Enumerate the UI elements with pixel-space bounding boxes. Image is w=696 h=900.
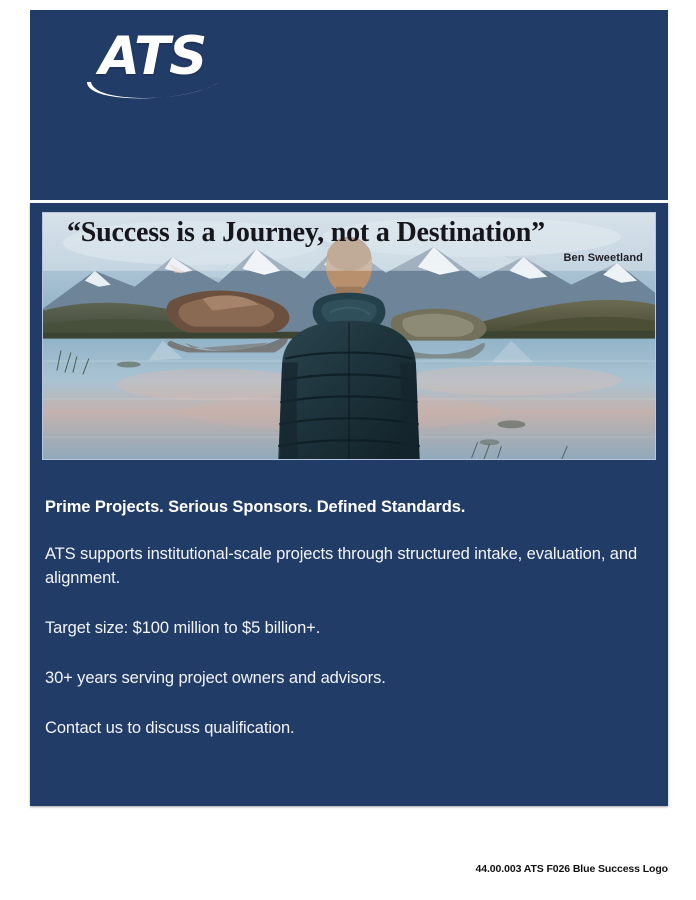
header-band: ATS [30, 10, 668, 200]
inspirational-banner: “Success is a Journey, not a Destination… [42, 212, 656, 460]
ats-swoosh-icon [85, 76, 225, 102]
paragraph-experience: 30+ years serving project owners and adv… [45, 667, 645, 691]
paragraph-target-size: Target size: $100 million to $5 billion+… [45, 617, 645, 641]
paragraph-support: ATS supports institutional-scale project… [45, 543, 645, 591]
headline: Prime Projects. Serious Sponsors. Define… [45, 498, 645, 517]
footer-document-code: 44.00.003 ATS F026 Blue Success Logo [0, 863, 668, 875]
body-text-container: Prime Projects. Serious Sponsors. Define… [45, 498, 645, 741]
mountain-lake-photo [43, 213, 655, 460]
ats-logo: ATS [85, 30, 275, 110]
paragraph-contact: Contact us to discuss qualification. [45, 717, 645, 741]
main-content-panel: “Success is a Journey, not a Destination… [30, 203, 668, 806]
